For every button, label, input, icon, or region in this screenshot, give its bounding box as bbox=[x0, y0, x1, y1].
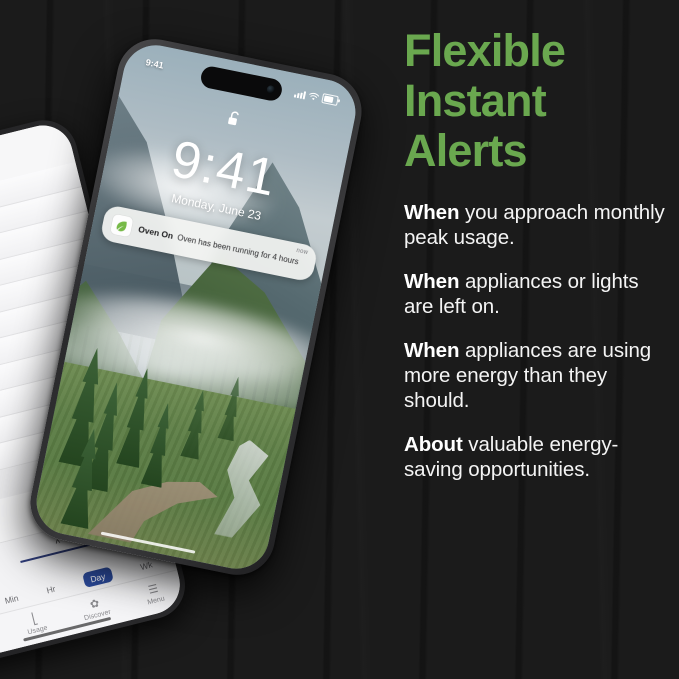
benefit-lead-word: When bbox=[404, 270, 459, 293]
headline-line-3: Alerts bbox=[404, 126, 666, 176]
marketing-copy: Flexible Instant Alerts When you approac… bbox=[404, 26, 666, 501]
leaf-icon: ✿ bbox=[89, 598, 101, 611]
notification-body: Oven has been running for 4 hours bbox=[176, 233, 299, 266]
leaf-icon bbox=[110, 214, 134, 238]
cellular-bars-icon bbox=[294, 89, 306, 99]
tab-menu[interactable]: ☰ Menu bbox=[144, 583, 166, 607]
phones-stage: My Home Usage Total Usage HVAC Kitchen bbox=[0, 0, 400, 679]
leaf-glyph bbox=[113, 217, 130, 234]
front-phone-screen: 9:41 bbox=[31, 39, 362, 574]
unlocked-padlock-icon bbox=[225, 109, 243, 131]
benefit-paragraph: When you approach monthly peak usage. bbox=[404, 200, 666, 250]
front-camera-icon bbox=[266, 85, 275, 94]
benefit-lead-word: About bbox=[404, 433, 463, 456]
headline-line-1: Flexible bbox=[404, 26, 666, 76]
benefit-paragraph: When appliances are using more energy th… bbox=[404, 338, 666, 413]
headline-line-2: Instant bbox=[404, 76, 666, 126]
bars-icon: ⎣ bbox=[31, 614, 39, 626]
notification-title: Oven On bbox=[137, 224, 174, 241]
lockscreen-ui: 9:41 bbox=[31, 39, 362, 574]
battery-icon bbox=[321, 93, 339, 105]
benefit-lead-word: When bbox=[404, 339, 459, 362]
front-phone-device: 9:41 bbox=[24, 32, 369, 581]
benefit-paragraph: About valuable energy-saving opportuniti… bbox=[404, 432, 666, 482]
range-option-wk[interactable]: Wk bbox=[139, 559, 153, 572]
tab-menu-label: Menu bbox=[147, 595, 166, 606]
page-title: Flexible Instant Alerts bbox=[404, 26, 666, 176]
hamburger-icon: ☰ bbox=[147, 584, 159, 597]
status-bar-indicators bbox=[294, 88, 339, 106]
range-option-hr[interactable]: Hr bbox=[45, 583, 56, 595]
benefit-lead-word: When bbox=[404, 201, 459, 224]
front-phone-frame: 9:41 bbox=[24, 32, 369, 581]
benefit-paragraph: When appliances or lights are left on. bbox=[404, 269, 666, 319]
wifi-icon bbox=[308, 91, 321, 102]
range-option-min[interactable]: Min bbox=[4, 592, 20, 605]
status-bar-time: 9:41 bbox=[145, 57, 165, 70]
